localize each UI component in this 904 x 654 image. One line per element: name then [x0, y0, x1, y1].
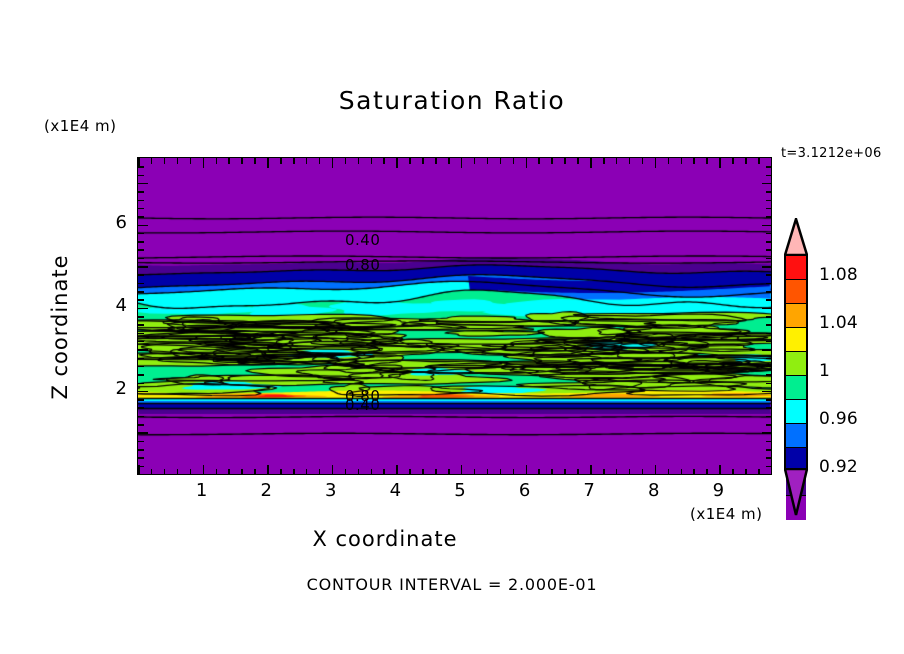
colorbar-band	[786, 400, 806, 424]
axis-tick	[137, 299, 144, 301]
y-axis-tick-label: 2	[105, 378, 127, 399]
axis-tick	[137, 424, 144, 426]
axis-tick	[137, 341, 144, 343]
axis-tick	[280, 157, 282, 164]
axis-tick	[137, 274, 144, 276]
axis-tick	[762, 225, 773, 227]
axis-tick	[766, 457, 773, 459]
contour-value-label: 0.40	[345, 396, 380, 414]
axis-tick	[762, 349, 773, 351]
axis-tick	[766, 200, 773, 202]
axis-tick	[766, 424, 773, 426]
colorbar-tick-label: 0.92	[819, 457, 858, 477]
axis-tick	[435, 157, 437, 164]
axis-tick	[719, 157, 721, 168]
contour-value-label: 0.80	[345, 256, 380, 274]
axis-tick	[681, 157, 683, 164]
axis-tick	[766, 333, 773, 335]
axis-tick	[137, 333, 144, 335]
axis-tick	[137, 258, 144, 260]
axis-tick	[306, 157, 308, 164]
axis-tick	[137, 200, 144, 202]
axis-tick	[655, 157, 657, 168]
axis-tick	[766, 383, 773, 385]
axis-tick	[137, 441, 144, 443]
axis-tick	[241, 469, 243, 476]
axis-tick	[745, 157, 747, 164]
axis-tick	[151, 469, 153, 476]
axis-tick	[766, 166, 773, 168]
x-axis-tick-label: 5	[445, 480, 475, 501]
axis-tick	[203, 465, 205, 476]
axis-tick	[766, 416, 773, 418]
axis-tick	[766, 358, 773, 360]
axis-tick	[732, 469, 734, 476]
colorbar: 1.081.0410.960.92	[781, 218, 901, 518]
axis-tick	[745, 469, 747, 476]
x-axis-tick-label: 3	[316, 480, 346, 501]
axis-tick	[766, 407, 773, 409]
axis-tick	[474, 157, 476, 164]
axis-tick	[629, 157, 631, 164]
axis-tick	[500, 157, 502, 164]
axis-tick	[603, 157, 605, 164]
axis-tick	[766, 208, 773, 210]
axis-tick	[762, 308, 773, 310]
axis-tick	[616, 157, 618, 164]
axis-tick	[719, 465, 721, 476]
axis-tick	[137, 283, 144, 285]
axis-tick	[526, 157, 528, 168]
axis-tick	[448, 469, 450, 476]
axis-tick	[766, 291, 773, 293]
axis-tick	[564, 157, 566, 164]
axis-tick	[766, 324, 773, 326]
contour-interval-note: CONTOUR INTERVAL = 2.000E-01	[0, 575, 904, 594]
colorbar-band	[786, 328, 806, 352]
axis-tick	[241, 157, 243, 164]
x-axis-tick-label: 9	[703, 480, 733, 501]
axis-tick	[513, 157, 515, 164]
axis-tick	[137, 383, 144, 385]
axis-tick	[177, 469, 179, 476]
axis-tick	[137, 457, 144, 459]
axis-tick	[137, 183, 148, 185]
axis-tick	[668, 469, 670, 476]
colorbar-under-arrow-icon	[784, 468, 808, 516]
axis-tick	[137, 249, 144, 251]
axis-tick	[267, 465, 269, 476]
axis-tick	[771, 469, 772, 476]
axis-tick	[358, 469, 360, 476]
colorbar-tick-label: 1.08	[819, 265, 858, 285]
axis-tick	[616, 469, 618, 476]
axis-tick	[164, 469, 166, 476]
axis-tick	[293, 469, 295, 476]
contour-plot-area	[137, 157, 772, 475]
axis-tick	[280, 469, 282, 476]
axis-tick	[538, 157, 540, 164]
axis-tick	[137, 432, 148, 434]
axis-tick	[762, 183, 773, 185]
axis-tick	[332, 157, 334, 168]
axis-tick	[422, 157, 424, 164]
axis-tick	[474, 469, 476, 476]
y-axis-tick-label: 4	[105, 295, 127, 316]
axis-tick	[766, 283, 773, 285]
axis-tick	[766, 374, 773, 376]
axis-tick	[306, 469, 308, 476]
x-axis-title: X coordinate	[0, 527, 770, 551]
axis-tick	[137, 366, 144, 368]
axis-tick	[766, 216, 773, 218]
axis-tick	[771, 157, 772, 164]
axis-tick	[409, 469, 411, 476]
axis-tick	[137, 324, 144, 326]
axis-tick	[513, 469, 515, 476]
axis-tick	[137, 175, 144, 177]
colorbar-band	[786, 280, 806, 304]
axis-tick	[577, 469, 579, 476]
axis-tick	[267, 157, 269, 168]
axis-tick	[319, 469, 321, 476]
axis-tick	[766, 233, 773, 235]
axis-tick	[203, 157, 205, 168]
x-axis-tick-label: 6	[510, 480, 540, 501]
axis-tick	[190, 157, 192, 164]
x-axis-tick-label: 1	[187, 480, 217, 501]
axis-tick	[629, 469, 631, 476]
colorbar-band	[786, 352, 806, 376]
axis-tick	[358, 157, 360, 164]
axis-tick	[487, 469, 489, 476]
axis-tick	[137, 399, 144, 401]
axis-tick	[137, 308, 148, 310]
axis-tick	[422, 469, 424, 476]
axis-tick	[448, 157, 450, 164]
axis-tick	[766, 441, 773, 443]
axis-tick	[137, 166, 144, 168]
axis-tick	[551, 469, 553, 476]
axis-tick	[137, 241, 144, 243]
axis-tick	[762, 474, 773, 475]
colorbar-bands	[784, 254, 808, 470]
axis-tick	[551, 157, 553, 164]
axis-tick	[164, 157, 166, 164]
axis-tick	[254, 157, 256, 164]
axis-tick	[137, 291, 144, 293]
axis-tick	[293, 157, 295, 164]
axis-tick	[766, 258, 773, 260]
axis-tick	[371, 157, 373, 164]
axis-tick	[396, 157, 398, 168]
axis-tick	[461, 465, 463, 476]
axis-tick	[137, 466, 144, 468]
axis-tick	[655, 465, 657, 476]
axis-tick	[668, 157, 670, 164]
colorbar-band	[786, 256, 806, 280]
axis-tick	[190, 469, 192, 476]
axis-tick	[137, 316, 144, 318]
axis-tick	[681, 469, 683, 476]
axis-tick	[383, 157, 385, 164]
axis-tick	[642, 469, 644, 476]
axis-tick	[345, 157, 347, 164]
axis-tick	[766, 466, 773, 468]
axis-tick	[766, 249, 773, 251]
x-axis-tick-label: 8	[639, 480, 669, 501]
axis-tick	[706, 469, 708, 476]
axis-tick	[228, 469, 230, 476]
axis-tick	[254, 469, 256, 476]
axis-tick	[383, 469, 385, 476]
axis-tick	[766, 341, 773, 343]
axis-tick	[603, 469, 605, 476]
axis-tick	[332, 465, 334, 476]
axis-tick	[137, 358, 144, 360]
colorbar-tick-label: 0.96	[819, 409, 858, 429]
colorbar-tick-label: 1	[819, 361, 830, 381]
x-axis-unit-label: (x1E4 m)	[690, 505, 763, 523]
axis-tick	[500, 469, 502, 476]
axis-tick	[137, 474, 148, 475]
axis-tick	[345, 469, 347, 476]
axis-tick	[137, 449, 144, 451]
axis-tick	[319, 157, 321, 164]
y-axis-unit-label: (x1E4 m)	[44, 117, 117, 135]
axis-tick	[396, 465, 398, 476]
axis-tick	[137, 191, 144, 193]
axis-tick	[137, 225, 148, 227]
axis-tick	[762, 266, 773, 268]
axis-tick	[693, 157, 695, 164]
axis-tick	[371, 469, 373, 476]
axis-tick	[590, 465, 592, 476]
y-axis-title: Z coordinate	[48, 227, 72, 427]
axis-tick	[766, 175, 773, 177]
contour-value-label: 0.40	[345, 231, 380, 249]
axis-tick	[766, 299, 773, 301]
x-axis-tick-label: 7	[574, 480, 604, 501]
axis-tick	[758, 469, 760, 476]
colorbar-tick-label: 1.04	[819, 313, 858, 333]
axis-tick	[137, 349, 148, 351]
axis-tick	[758, 157, 760, 164]
axis-tick	[137, 208, 144, 210]
axis-tick	[487, 157, 489, 164]
axis-tick	[137, 233, 144, 235]
axis-tick	[461, 157, 463, 168]
x-axis-tick-label: 2	[251, 480, 281, 501]
colorbar-over-arrow-icon	[784, 218, 808, 256]
axis-tick	[766, 274, 773, 276]
axis-tick	[766, 241, 773, 243]
axis-tick	[216, 157, 218, 164]
axis-tick	[766, 399, 773, 401]
axis-tick	[590, 157, 592, 168]
axis-tick	[137, 374, 144, 376]
axis-tick	[564, 469, 566, 476]
axis-tick	[137, 416, 144, 418]
axis-tick	[766, 316, 773, 318]
colorbar-band	[786, 304, 806, 328]
time-stamp-label: t=3.1212e+06	[781, 146, 882, 161]
axis-tick	[228, 157, 230, 164]
axis-tick	[137, 216, 144, 218]
axis-tick	[538, 469, 540, 476]
axis-tick	[577, 157, 579, 164]
axis-tick	[526, 465, 528, 476]
axis-tick	[435, 469, 437, 476]
axis-tick	[151, 157, 153, 164]
x-axis-tick-label: 4	[380, 480, 410, 501]
saturation-field-canvas	[138, 158, 771, 474]
axis-tick	[706, 157, 708, 164]
axis-tick	[409, 157, 411, 164]
axis-tick	[762, 432, 773, 434]
axis-tick	[137, 266, 148, 268]
y-axis-tick-label: 6	[105, 212, 127, 233]
axis-tick	[766, 191, 773, 193]
axis-tick	[177, 157, 179, 164]
axis-tick	[766, 366, 773, 368]
axis-tick	[732, 157, 734, 164]
axis-tick	[137, 391, 148, 393]
page-title: Saturation Ratio	[0, 86, 904, 115]
axis-tick	[766, 449, 773, 451]
colorbar-band	[786, 424, 806, 448]
axis-tick	[762, 391, 773, 393]
axis-tick	[693, 469, 695, 476]
axis-tick	[642, 157, 644, 164]
axis-tick	[216, 469, 218, 476]
axis-tick	[137, 407, 144, 409]
colorbar-band	[786, 376, 806, 400]
